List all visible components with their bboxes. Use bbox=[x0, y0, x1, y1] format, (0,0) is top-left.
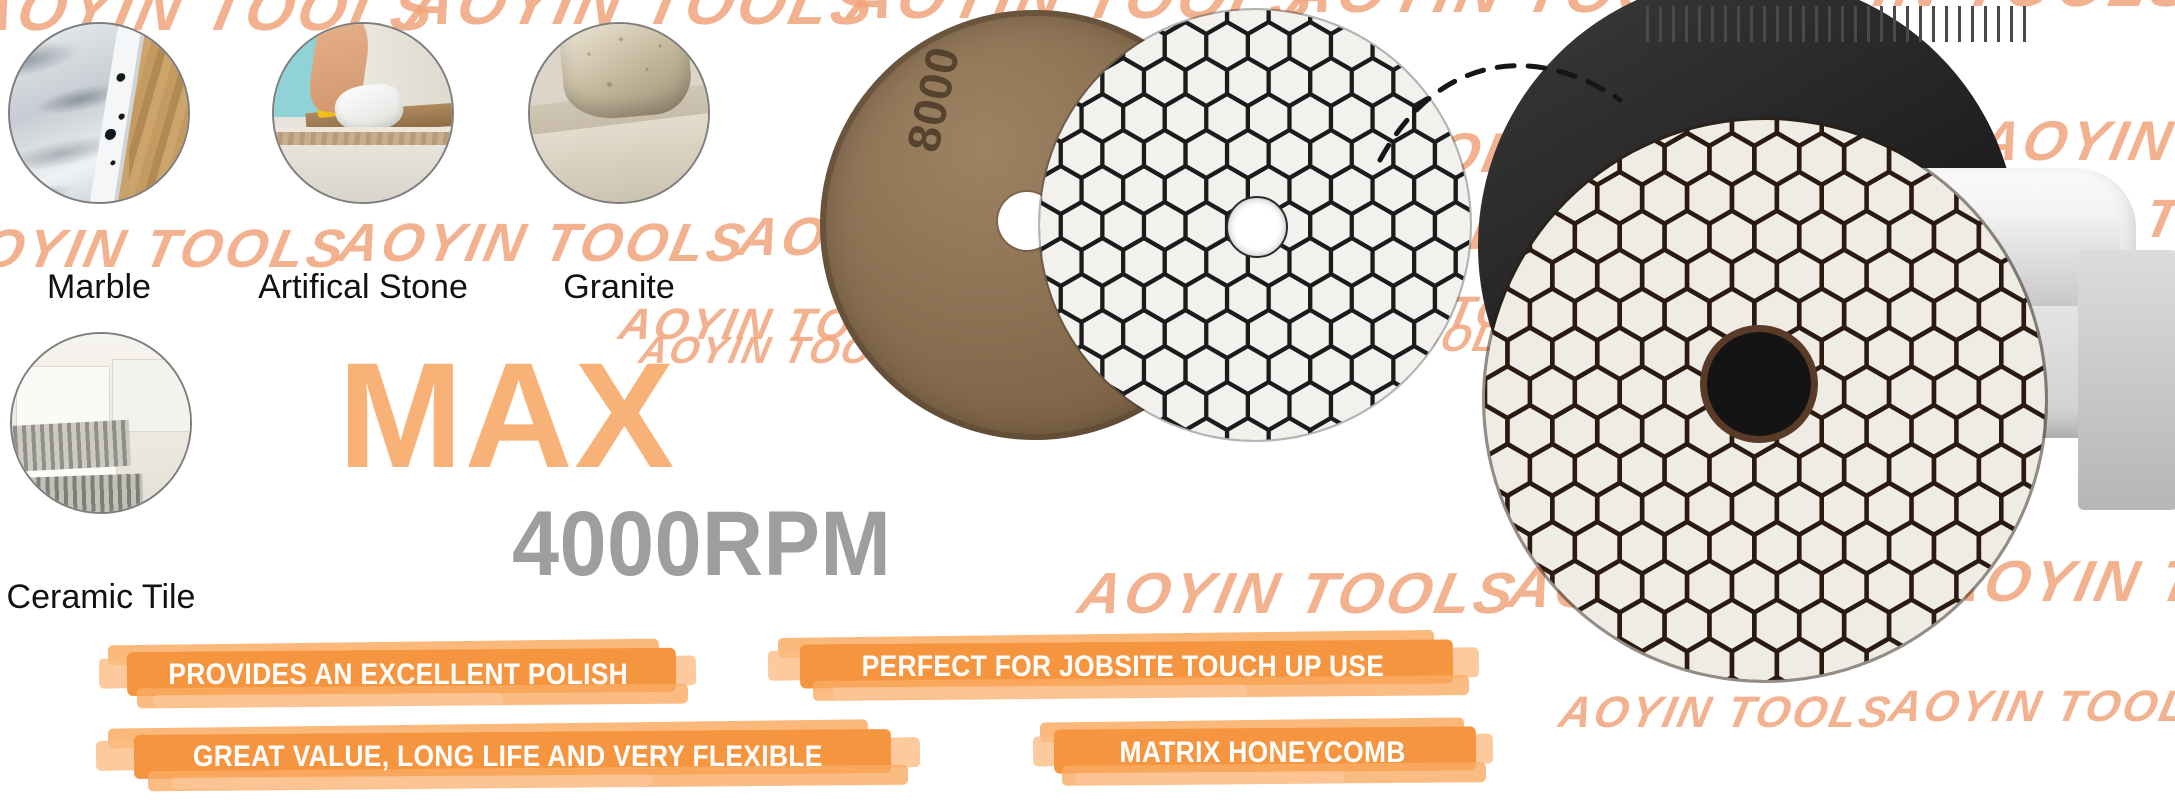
feature-text-3: GREAT VALUE, LONG LIFE AND VERY FLEXIBLE bbox=[193, 740, 823, 774]
material-circle-granite bbox=[528, 22, 710, 204]
watermark-text: AOYIN TOOLS bbox=[333, 212, 753, 274]
mounted-honeycomb-pad bbox=[1485, 120, 2045, 680]
callout-dashed-line bbox=[1370, 40, 1630, 190]
headline-max: MAX bbox=[338, 340, 676, 490]
feature-bar-3: GREAT VALUE, LONG LIFE AND VERY FLEXIBLE bbox=[108, 730, 908, 784]
feature-bar-1: PROVIDES AN EXCELLENT POLISH bbox=[108, 648, 688, 702]
feature-bar-4: MATRIX HONEYCOMB bbox=[1040, 726, 1486, 780]
marble-photo bbox=[10, 24, 188, 202]
feature-text-1: PROVIDES AN EXCELLENT POLISH bbox=[168, 658, 628, 692]
feature-bar-2: PERFECT FOR JOBSITE TOUCH UP USE bbox=[778, 640, 1468, 694]
material-circle-artificial-stone bbox=[272, 22, 454, 204]
material-circle-ceramic-tile bbox=[10, 332, 192, 514]
mounted-pad-center-hole bbox=[1707, 332, 1811, 436]
grinder-vent-slots bbox=[1646, 6, 2026, 42]
material-label-ceramic-tile: Ceramic Tile bbox=[0, 578, 212, 617]
granite-photo bbox=[530, 24, 708, 202]
material-label-marble: Marble bbox=[8, 268, 190, 307]
grinder-rear-handle bbox=[2078, 250, 2175, 510]
pad-center-hole bbox=[1226, 196, 1288, 258]
feature-text-4: MATRIX HONEYCOMB bbox=[1120, 736, 1406, 770]
headline-rpm: 4000RPM bbox=[512, 498, 891, 590]
material-circle-marble bbox=[8, 22, 190, 204]
ceramic-tile-photo bbox=[12, 334, 190, 512]
material-label-artificial-stone: Artifical Stone bbox=[250, 268, 476, 307]
feature-text-2: PERFECT FOR JOBSITE TOUCH UP USE bbox=[862, 650, 1385, 684]
material-label-granite: Granite bbox=[528, 268, 710, 307]
product-banner: AOYIN TOOLSAOYIN TOOLSAOYIN TOOLSAOYIN T… bbox=[0, 0, 2175, 800]
artificial-stone-photo bbox=[274, 24, 452, 202]
